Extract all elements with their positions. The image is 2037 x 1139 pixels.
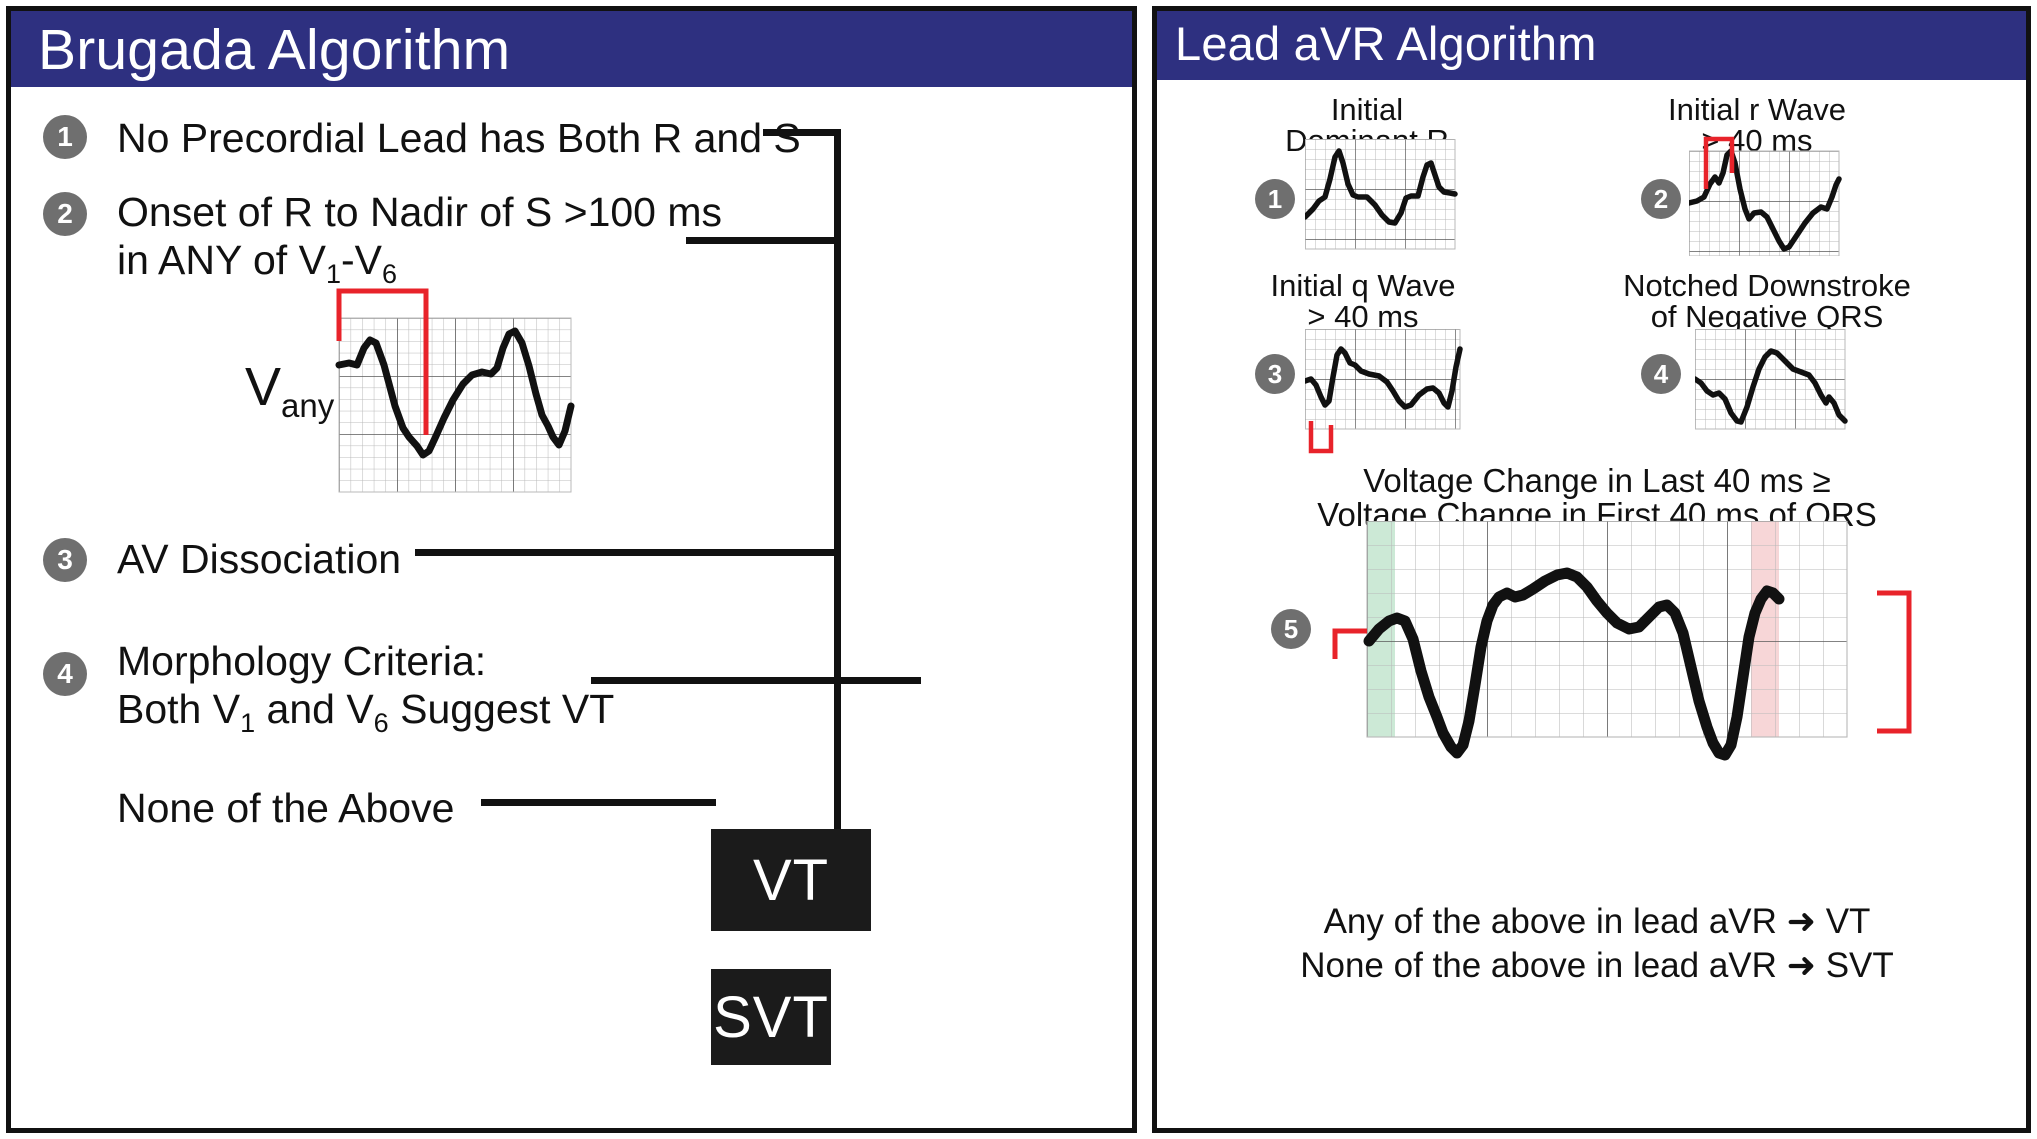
avr-item-2-badge: 2 [1641,179,1681,219]
brugada-panel-title: Brugada Algorithm [38,17,510,83]
avr-item-1-ecg-strip [1305,139,1465,254]
avr-item-2-ecg-strip [1689,131,1854,256]
criterion-2-text-line1: Onset of R to Nadir of S >100 ms [117,189,722,236]
avr-item-3-ecg-strip [1305,329,1475,459]
vany-lead-label: Vany [245,356,334,425]
avr-panel-title: Lead aVR Algorithm [1175,16,1597,71]
criterion-4-prefix: Both V [117,686,240,732]
vany-ecg-strip [331,283,581,503]
criterion-4-badge: 4 [43,652,87,696]
connector-bus-vertical [834,129,841,839]
criterion-1-badge: 1 [43,115,87,159]
criterion-4-mid: and V [255,686,374,732]
result-box-vt: VT [711,829,871,931]
none-of-the-above-text: None of the Above [117,785,454,832]
vany-subscript: any [281,387,334,424]
criterion-4-post: Suggest VT [389,686,615,732]
connector-line-2 [686,237,841,244]
criterion-3-text: AV Dissociation [117,536,401,583]
lead-avr-algorithm-panel: Lead aVR Algorithm Initial Dominant R 1 [1152,6,2031,1133]
criterion-2-prefix: in ANY of V [117,237,326,283]
result-box-svt: SVT [711,969,831,1065]
criterion-4-sub-v1: 1 [240,708,255,738]
avr-item-5-badge: 5 [1271,609,1311,649]
criterion-3-badge: 3 [43,538,87,582]
ecg-algorithm-figure: Brugada Algorithm 1 No Precordial Lead h… [0,0,2037,1139]
avr-conclusion-svt: None of the above in lead aVR ➜ SVT [1177,943,2017,989]
avr-item-5-ecg-strip [1317,521,1937,771]
avr-conclusion-vt: Any of the above in lead aVR ➜ VT [1177,899,2017,945]
criterion-2-mid: -V [341,237,382,283]
connector-line-4 [591,677,921,684]
criterion-1-text: No Precordial Lead has Both R and S [117,115,801,162]
criterion-4-text-line1: Morphology Criteria: [117,638,486,685]
brugada-algorithm-panel: Brugada Algorithm 1 No Precordial Lead h… [6,6,1137,1133]
criterion-4-sub-v6: 6 [374,708,389,738]
avr-item-4-badge: 4 [1641,354,1681,394]
vany-letter: V [245,357,281,417]
connector-line-none [481,799,716,806]
avr-item-3-badge: 3 [1255,354,1295,394]
connector-line-3 [415,549,841,556]
criterion-4-text-line2: Both V1 and V6 Suggest VT [117,686,614,739]
avr-item-4-ecg-strip [1695,329,1850,439]
connector-line-1 [763,129,841,136]
avr-item-1-badge: 1 [1255,179,1295,219]
criterion-2-badge: 2 [43,192,87,236]
